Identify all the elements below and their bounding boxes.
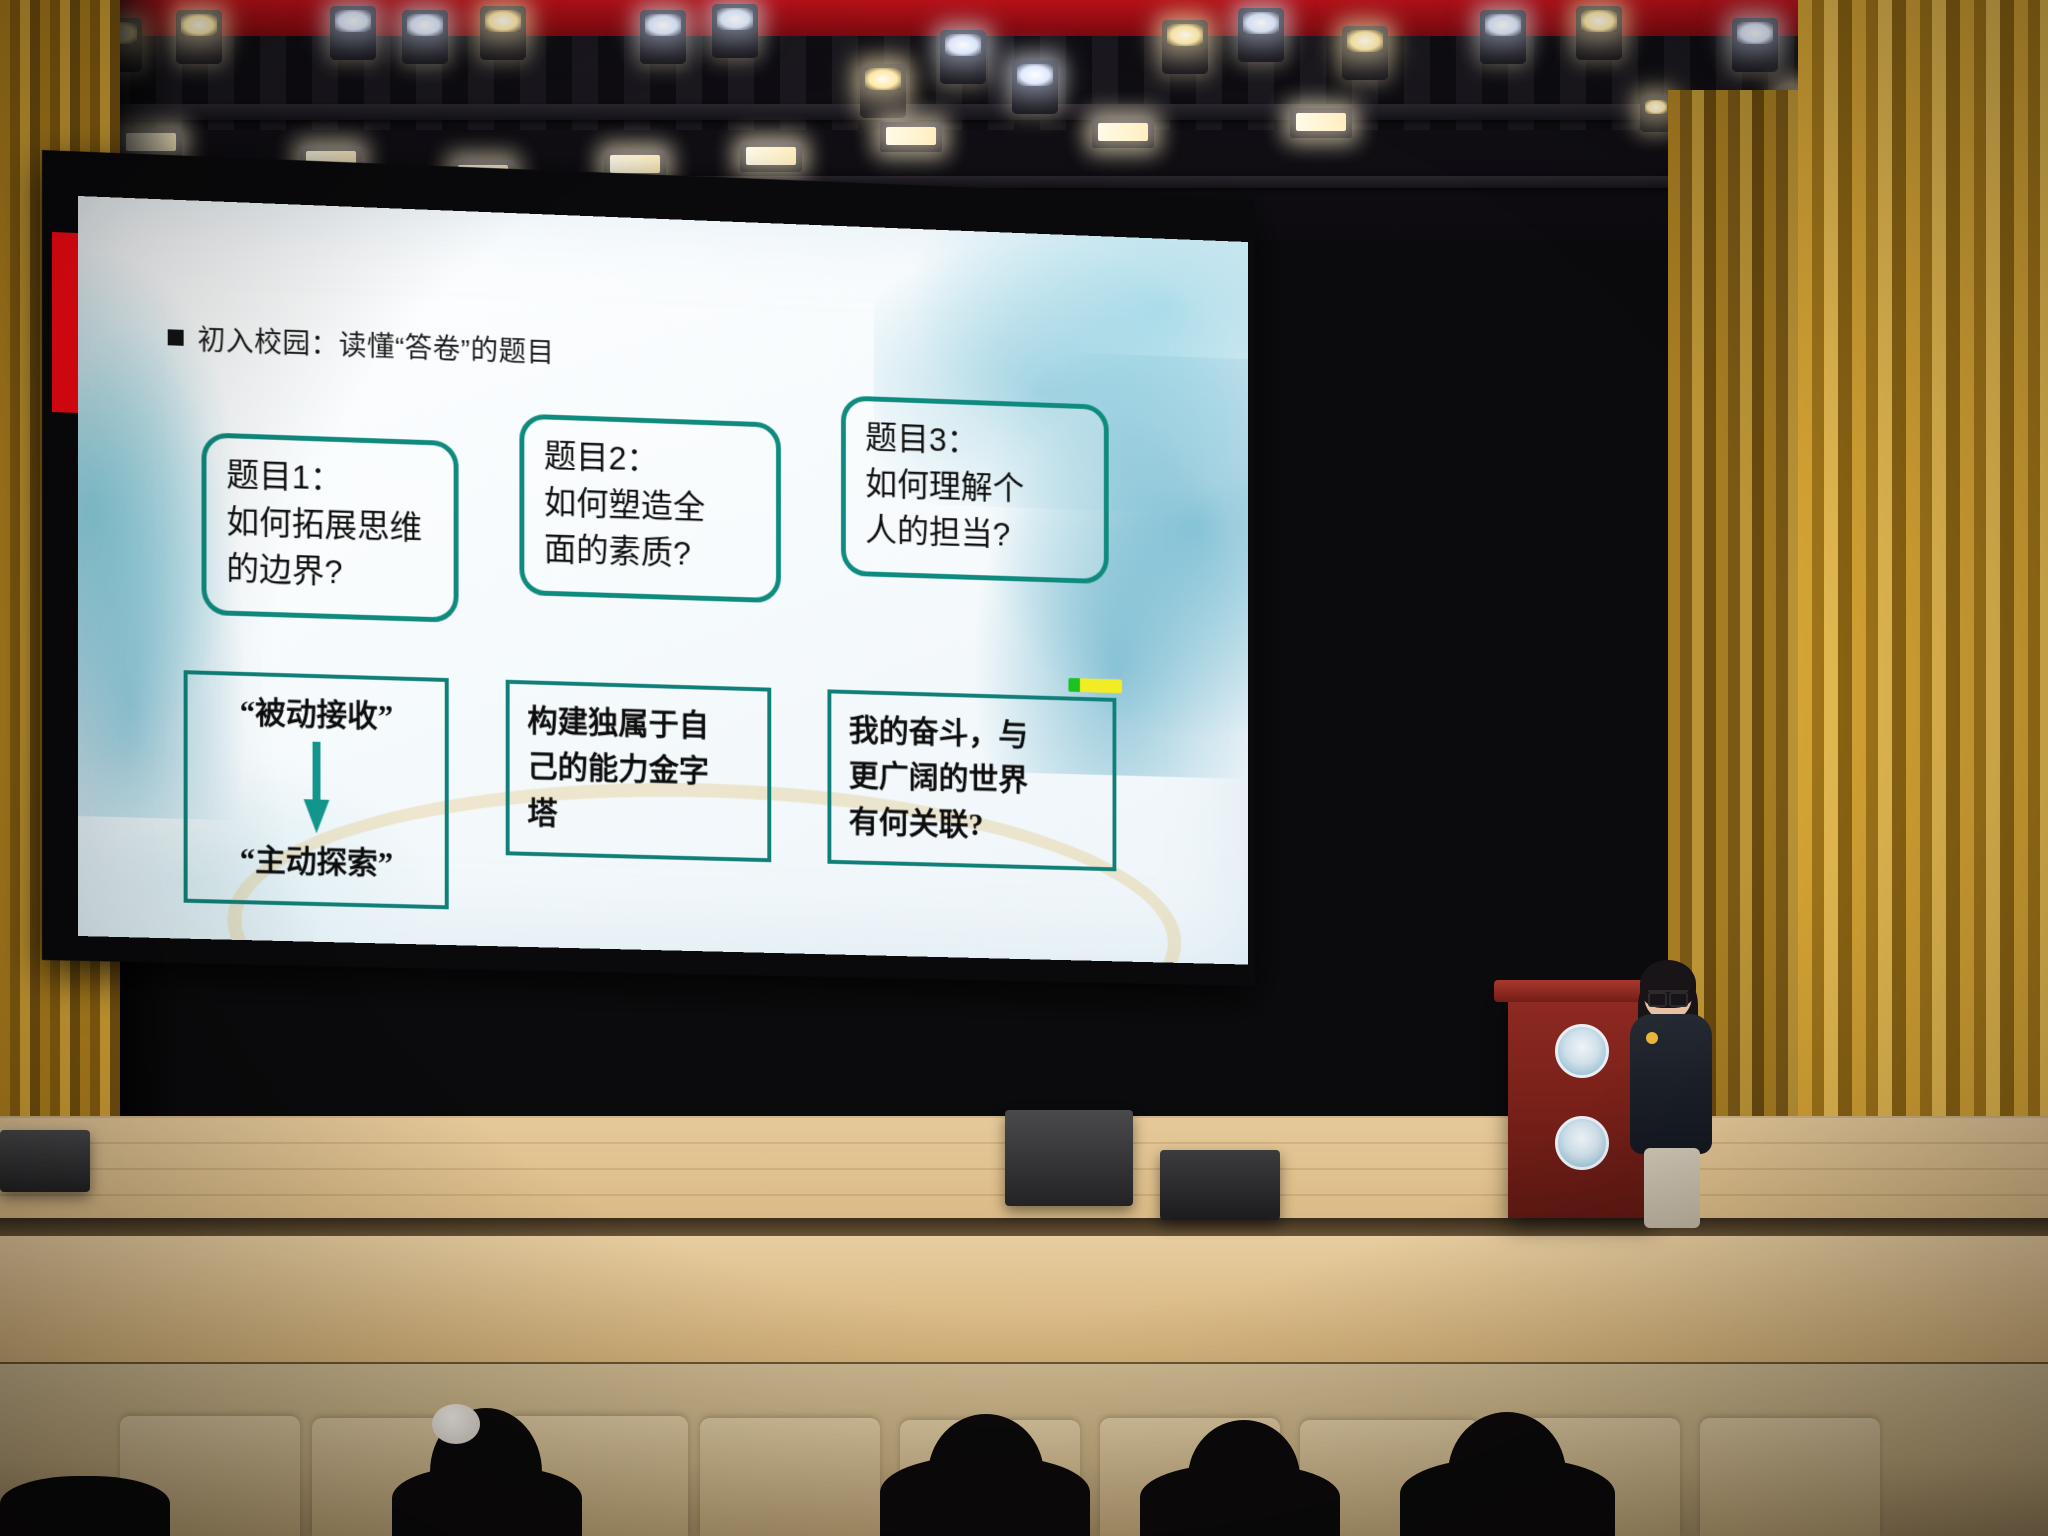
fresnel-light-icon [880,122,942,152]
presentation-slide: 初入校园：读懂“答卷”的题目 题目1： 如何拓展思维 的边界? 题目2： 如何塑… [78,196,1248,965]
audience-member-head [1448,1412,1566,1536]
answer-3-line-1: 我的奋斗，与 [849,707,1096,760]
question-box-1: 题目1： 如何拓展思维 的边界? [202,432,459,622]
question-1-label: 题目1： [226,452,434,506]
answer-box-2: 构建独属于自 己的能力金字 塔 [506,679,772,862]
audience-member-head [928,1414,1044,1536]
stage-light-icon [330,6,376,60]
answer-2-line-1: 构建独属于自 [527,698,750,750]
question-box-2: 题目2： 如何塑造全 面的素质? [519,414,780,603]
hair-scrunchie [432,1404,480,1444]
answer-box-3: 我的奋斗，与 更广阔的世界 有何关联? [827,689,1116,871]
answer-3-line-2: 更广阔的世界 [849,753,1096,806]
lapel-badge-icon [1646,1032,1658,1044]
school-emblem-icon [1555,1116,1609,1170]
stage-apron [0,1236,2048,1366]
answer-1-top: “被动接收” [205,688,427,741]
stage-light-icon [1342,26,1388,80]
stage-monitor-center [1005,1110,1133,1206]
question-1-line-1: 如何拓展思维 [226,499,434,552]
answer-1-bottom: “主动探索” [205,836,427,888]
stage-light-icon [176,10,222,64]
slide-title-row: 初入校园：读懂“答卷”的题目 [168,317,1182,394]
stage-light-icon [940,30,986,84]
seat [1700,1418,1880,1536]
question-2-line-1: 如何塑造全 [544,480,757,533]
stage-light-icon [1162,20,1208,74]
glasses-icon [1648,990,1688,1001]
question-row: 题目1： 如何拓展思维 的边界? 题目2： 如何塑造全 面的素质? 题目3： 如… [168,383,1182,645]
audience-member [0,1476,170,1536]
auditorium-photo: 初入校园：读懂“答卷”的题目 题目1： 如何拓展思维 的边界? 题目2： 如何塑… [0,0,2048,1536]
question-3-line-1: 如何理解个 [865,461,1085,514]
presenter [1628,966,1714,1226]
stage-monitor-left [0,1130,90,1192]
stage-light-icon [1576,6,1622,60]
stage-light-icon [1732,18,1778,72]
question-2-label: 题目2： [544,433,757,487]
fresnel-light-icon [740,142,802,172]
question-3-line-2: 人的担当? [865,507,1085,560]
question-1-line-2: 的边界? [226,546,434,599]
answer-row: “被动接收” “主动探索” 构建独属于自 己的能力金字 塔 我的奋斗 [168,669,1182,927]
page-title: 初入校园：读懂“答卷”的题目 [198,318,555,371]
highlight-marker-icon [1068,678,1122,693]
stage-light-icon [1012,60,1058,114]
stage-monitor-right [1160,1150,1280,1220]
answer-2-line-2: 己的能力金字 [527,744,750,796]
question-box-3: 题目3： 如何理解个 人的担当? [841,395,1109,583]
stage-edge [0,1218,2048,1236]
spot-light-icon [1640,96,1670,132]
fresnel-light-icon [1092,118,1154,148]
stage-light-icon [480,6,526,60]
audience-member-head [1188,1420,1300,1536]
seat [700,1418,880,1536]
stage-light-icon [860,64,906,118]
school-emblem-icon [1555,1024,1609,1078]
question-2-line-2: 面的素质? [544,526,757,579]
presenter-legs [1644,1148,1700,1228]
stage-light-icon [712,4,758,58]
presenter-body [1630,1014,1712,1154]
stage-light-icon [1238,8,1284,62]
stage-light-icon [402,10,448,64]
fresnel-light-icon [1290,108,1352,138]
question-3-label: 题目3： [865,415,1085,469]
down-arrow-icon [205,735,427,843]
square-bullet-icon [168,329,184,346]
stage-light-icon [1480,10,1526,64]
answer-box-1: “被动接收” “主动探索” [184,670,449,909]
answer-3-line-3: 有何关联? [849,799,1096,851]
answer-2-line-3: 塔 [527,790,750,842]
stage-light-icon [640,10,686,64]
